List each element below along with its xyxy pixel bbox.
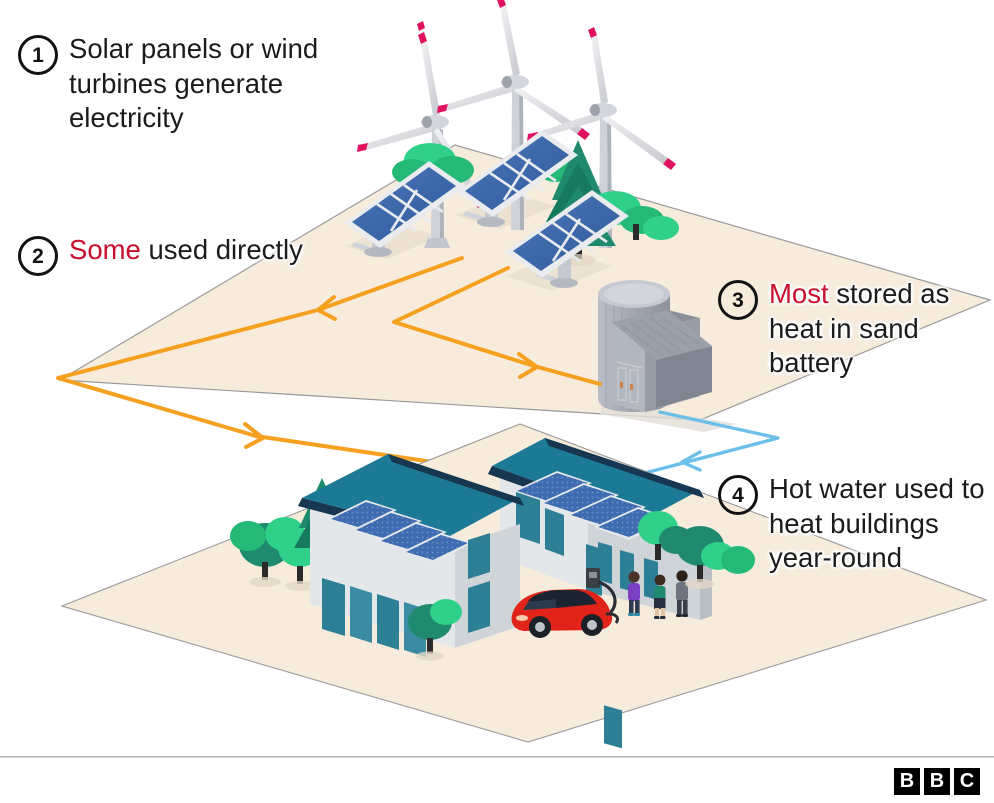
step-3-callout: 3 Most stored as heat in sand battery bbox=[718, 277, 994, 381]
step-2-number: 2 bbox=[18, 236, 58, 276]
step-3-label: Most stored as heat in sand battery bbox=[769, 277, 994, 381]
bbc-logo-letter-3: C bbox=[954, 768, 980, 795]
bbc-logo-letter-2: B bbox=[924, 768, 950, 795]
step-2-callout: 2 Some used directly bbox=[18, 233, 303, 276]
step-4-label: Hot water used to heat buildings year-ro… bbox=[769, 472, 994, 576]
step-3-number: 3 bbox=[718, 280, 758, 320]
step-2-label: Some used directly bbox=[69, 233, 303, 268]
step-4-callout: 4 Hot water used to heat buildings year-… bbox=[718, 472, 994, 576]
infographic-canvas: 1 Solar panels or wind turbines generate… bbox=[0, 0, 994, 803]
step-4-number: 4 bbox=[718, 475, 758, 515]
footer-divider bbox=[0, 756, 994, 758]
step-1-callout: 1 Solar panels or wind turbines generate… bbox=[18, 32, 379, 136]
step-2-highlight: Some bbox=[69, 234, 141, 265]
bbc-logo: B B C bbox=[894, 768, 980, 795]
bbc-logo-letter-1: B bbox=[894, 768, 920, 795]
step-1-number: 1 bbox=[18, 35, 58, 75]
step-3-highlight: Most bbox=[769, 278, 829, 309]
step-1-label: Solar panels or wind turbines generate e… bbox=[69, 32, 379, 136]
